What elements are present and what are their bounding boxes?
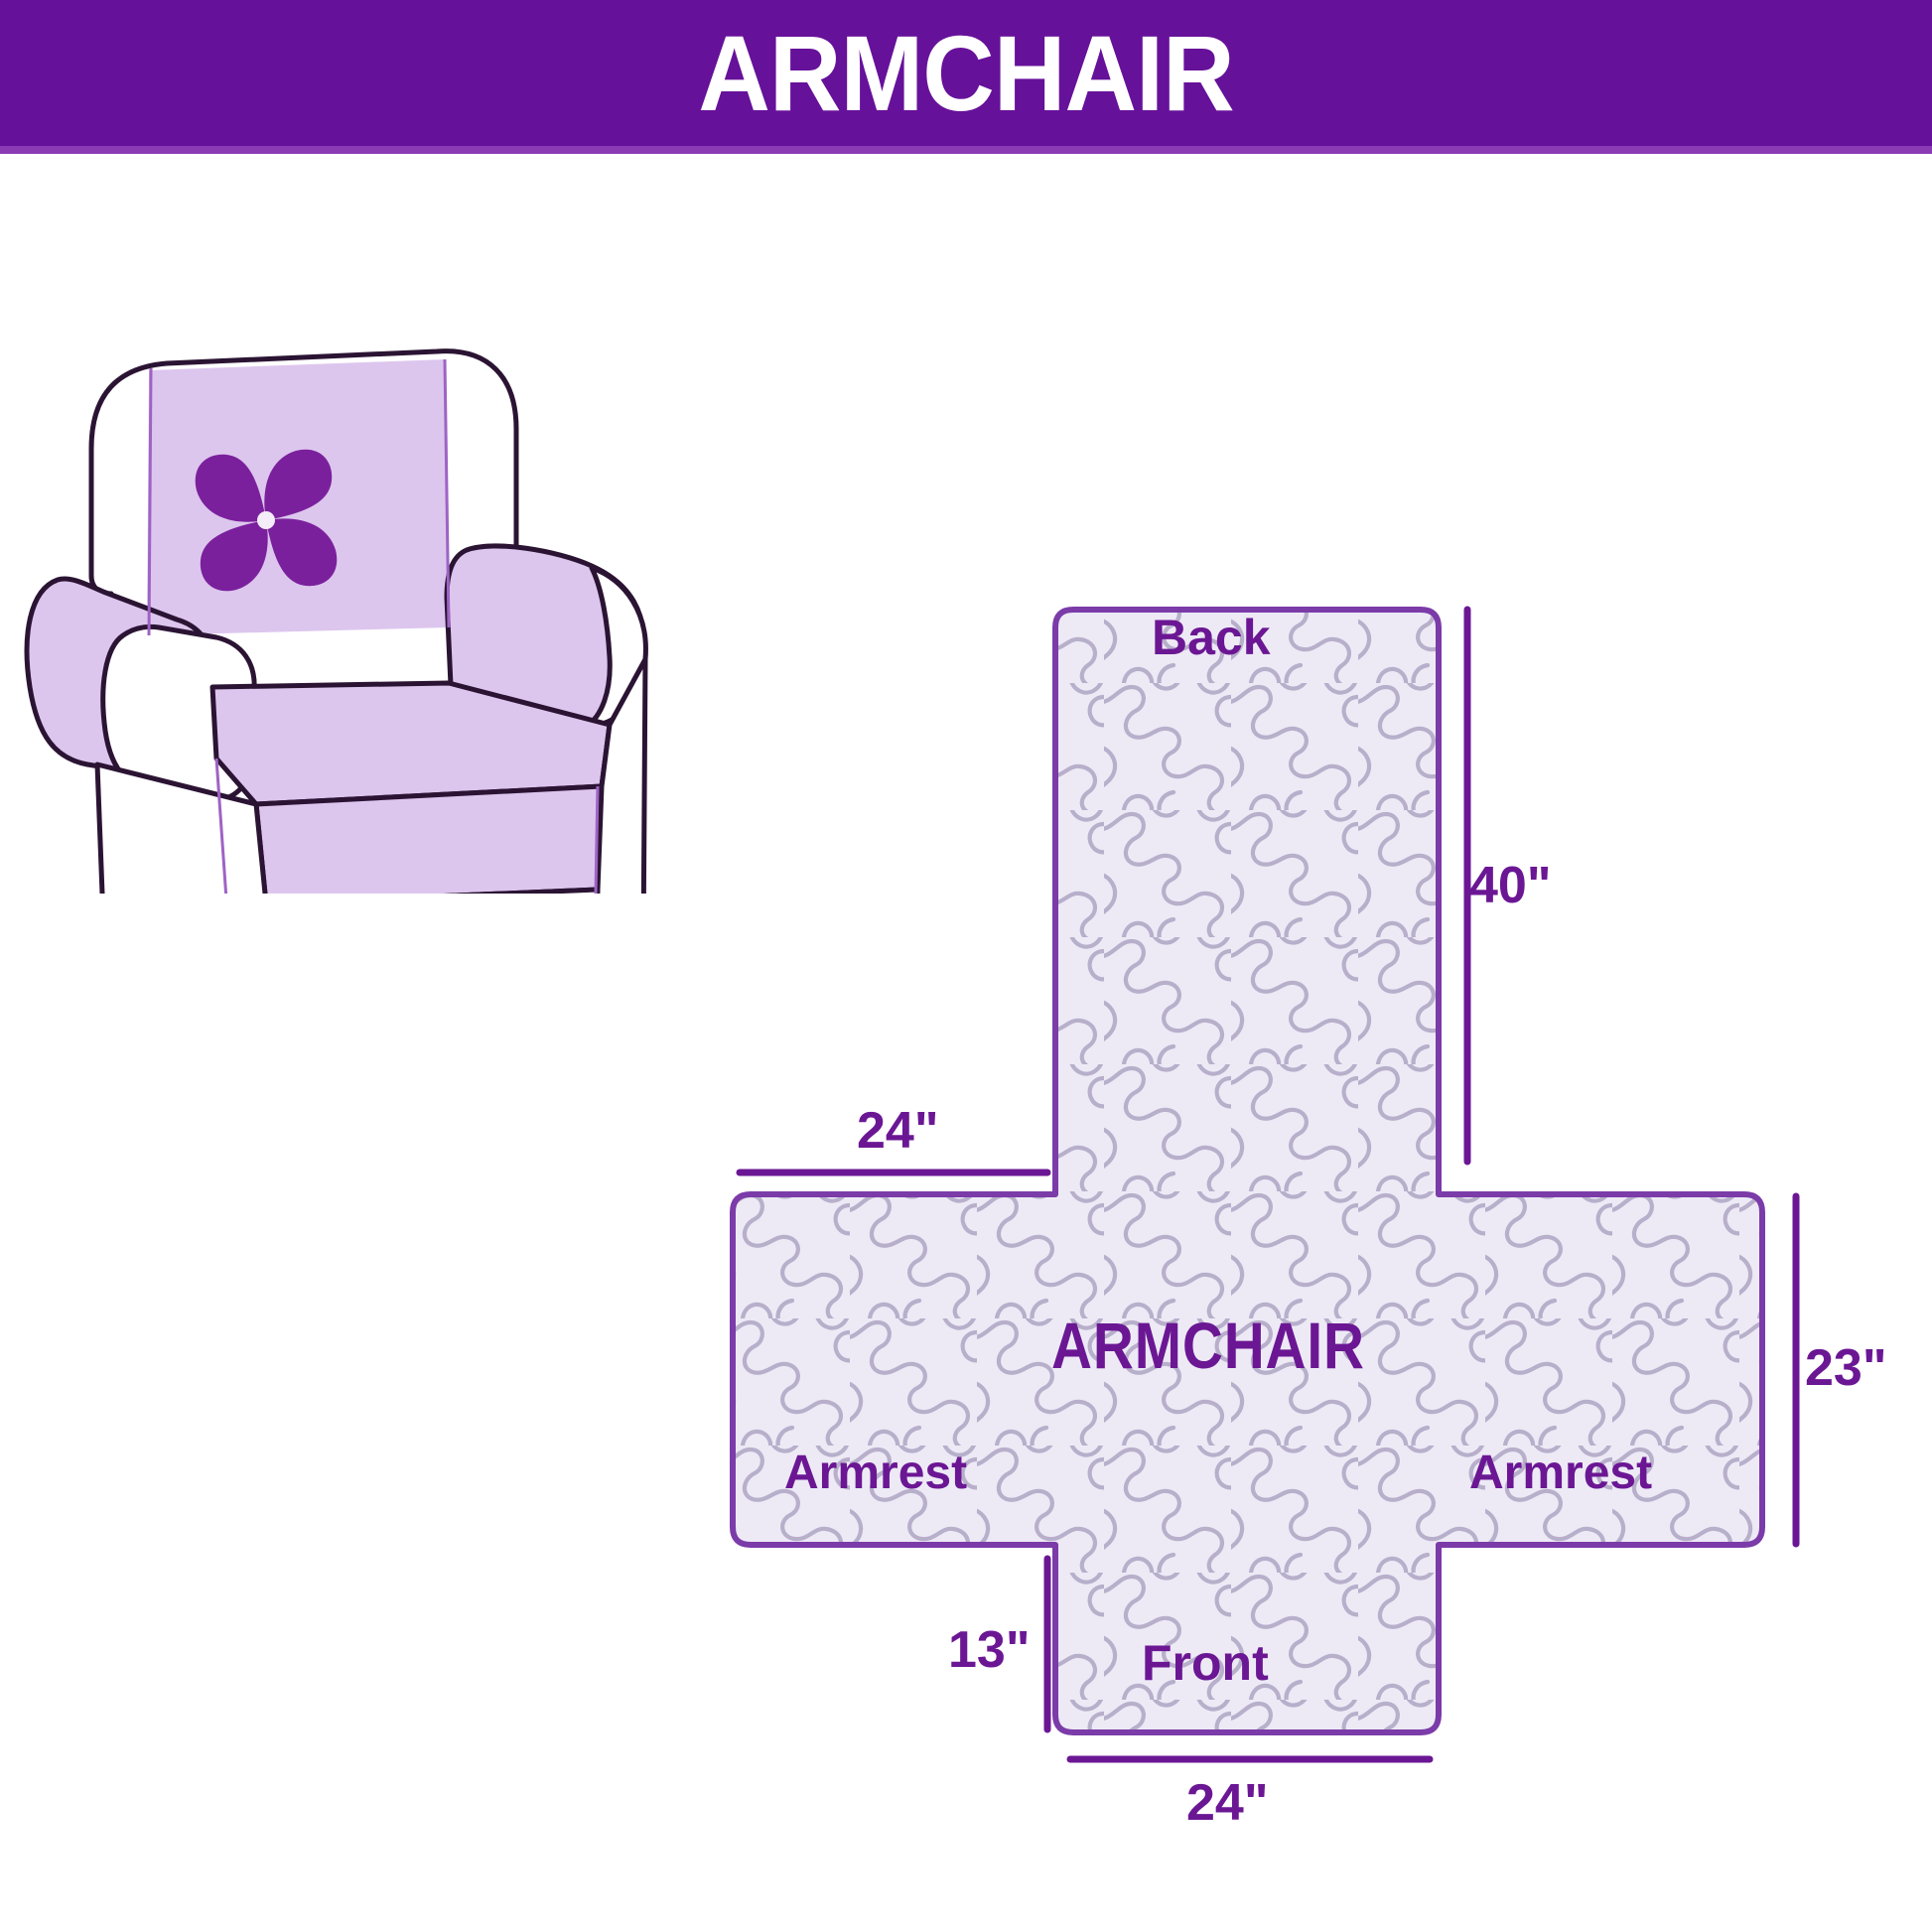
dimension-label-armrest-width: 24"	[857, 1105, 939, 1157]
dimension-label-front-width: 24"	[1186, 1777, 1269, 1829]
page-title: ARMCHAIR	[68, 0, 1864, 146]
dimension-label-back-height: 40"	[1469, 860, 1552, 911]
panel-label-center: ARMCHAIR	[1051, 1312, 1365, 1378]
fan-hub-icon	[257, 511, 275, 529]
panel-label-armrest-right: Armrest	[1469, 1449, 1652, 1497]
dimension-label-seat-depth: 23"	[1805, 1342, 1887, 1394]
dimension-label-front-drop: 13"	[948, 1624, 1031, 1676]
product-dimension-diagram: ARMCHAIR	[0, 0, 1932, 1932]
panel-label-back: Back	[1152, 613, 1271, 662]
header-underline	[0, 146, 1932, 154]
panel-label-front: Front	[1142, 1638, 1269, 1688]
panel-label-armrest-left: Armrest	[784, 1449, 967, 1497]
chair-body	[27, 351, 645, 894]
